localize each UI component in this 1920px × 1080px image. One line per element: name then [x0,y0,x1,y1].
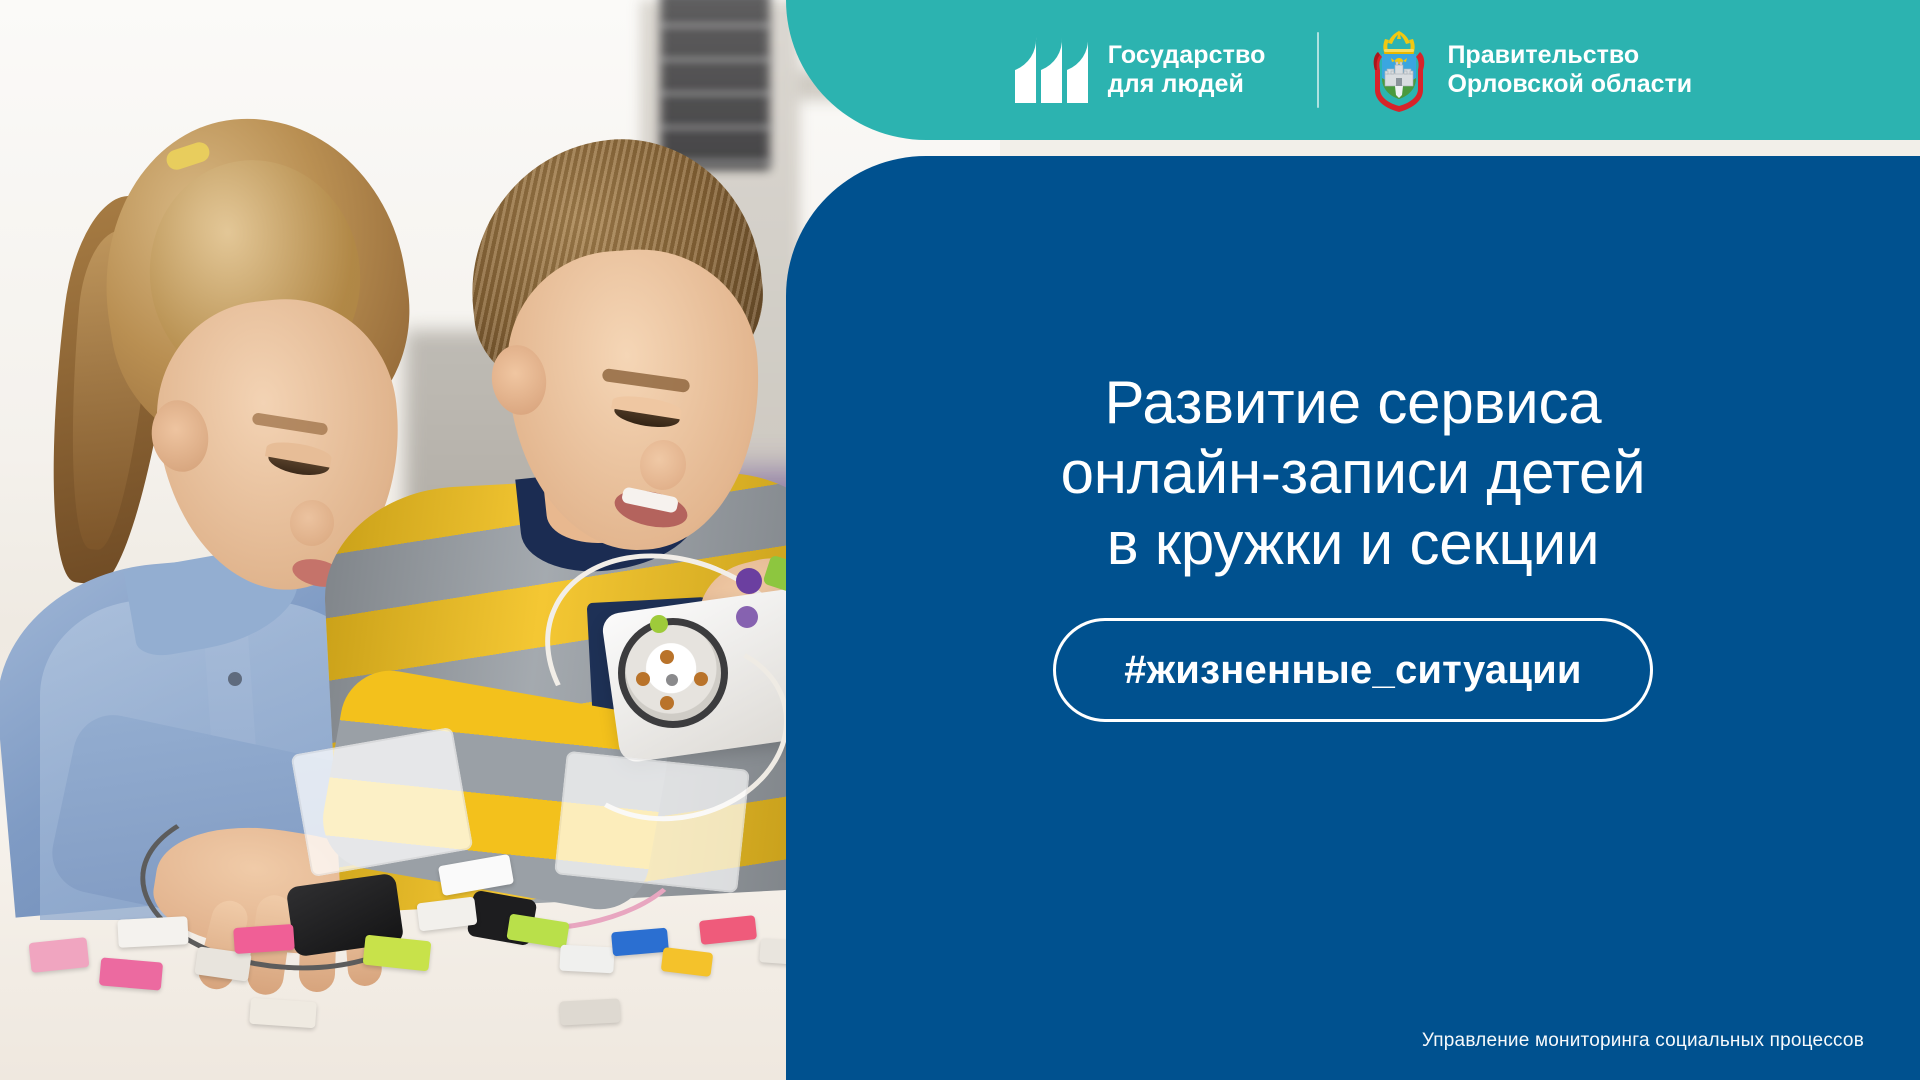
brand-lockup: Государство для людей [1014,37,1266,103]
header-bar: Государство для людей [786,0,1920,140]
electronic-component [611,928,669,957]
robot-purple-knob [736,568,762,594]
brand-title: Государство для людей [1108,41,1266,100]
photo-window-blinds [660,0,770,170]
robot-green-led [650,615,668,633]
footer-credit: Управление мониторинга социальных процес… [1422,1030,1864,1052]
content-panel: Развитие сервиса онлайн-записи детей в к… [786,156,1920,1080]
header-divider [1317,32,1319,108]
oryol-oblast-coat-of-arms-icon [1371,28,1427,112]
robot-purple-knob [736,606,758,628]
electronic-component [29,937,90,973]
electronic-component [559,945,614,974]
electronic-component [233,924,295,954]
girl-shirt-button [228,672,242,686]
electronic-component [249,998,317,1029]
electronic-component [99,957,163,990]
hashtag-button[interactable]: #жизненные_ситуации [1053,618,1653,722]
electronic-component [559,998,620,1025]
electronic-component [117,916,188,948]
promo-banner: Государство для людей [0,0,1920,1080]
government-lockup: Правительство Орловской области [1371,28,1692,112]
page-title: Развитие сервиса онлайн-записи детей в к… [786,368,1920,579]
three-flags-logo-icon [1014,37,1088,103]
government-title: Правительство Орловской области [1447,41,1692,100]
